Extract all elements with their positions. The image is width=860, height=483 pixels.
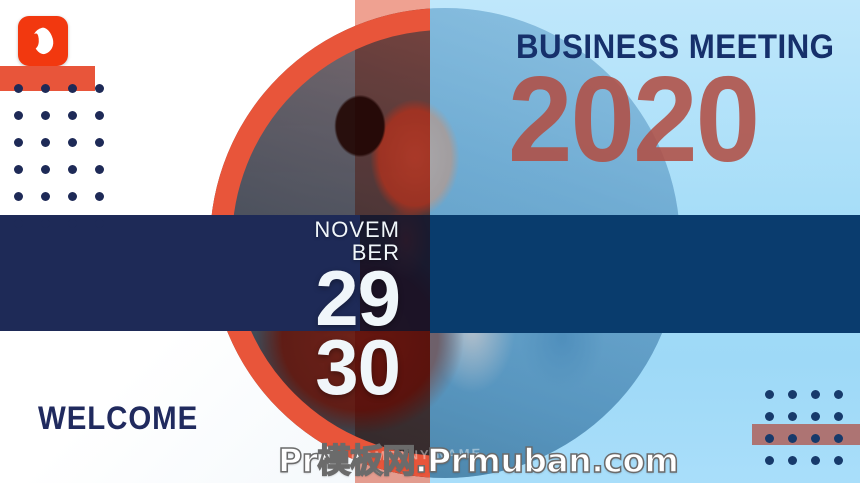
- dot: [68, 165, 77, 174]
- dot: [811, 456, 820, 465]
- dot: [95, 84, 104, 93]
- dot: [834, 412, 843, 421]
- dot: [14, 84, 23, 93]
- event-year: 2020: [508, 58, 758, 180]
- dot: [68, 219, 77, 228]
- dot: [41, 219, 50, 228]
- dot: [811, 390, 820, 399]
- event-date-block: NOVEMBER 29 30: [300, 218, 400, 401]
- dot: [788, 390, 797, 399]
- dot: [788, 434, 797, 443]
- dot: [95, 138, 104, 147]
- dot: [68, 111, 77, 120]
- site-watermark: Pr模板网.Prmuban.com: [278, 434, 678, 482]
- dot-grid-top-left: [14, 84, 122, 246]
- dot: [14, 138, 23, 147]
- dot: [95, 219, 104, 228]
- dot: [41, 165, 50, 174]
- dot: [788, 412, 797, 421]
- welcome-text: WELCOME: [38, 400, 198, 437]
- dot: [95, 111, 104, 120]
- dot: [811, 412, 820, 421]
- event-day-second: 30: [300, 333, 400, 402]
- dot: [95, 165, 104, 174]
- dot: [68, 138, 77, 147]
- dot: [41, 192, 50, 201]
- dot: [765, 390, 774, 399]
- dot: [14, 192, 23, 201]
- brand-logo[interactable]: [18, 16, 68, 66]
- slide-canvas: BUSINESS MEETING 2020 NOVEMBER 29 30 WEL…: [0, 0, 860, 483]
- dot: [68, 84, 77, 93]
- dot: [765, 412, 774, 421]
- dot: [834, 456, 843, 465]
- dot: [834, 434, 843, 443]
- dot: [41, 111, 50, 120]
- dot: [834, 390, 843, 399]
- dot-grid-bottom-right: [765, 390, 857, 478]
- dot: [41, 84, 50, 93]
- dot: [68, 192, 77, 201]
- dot: [14, 219, 23, 228]
- dot: [14, 111, 23, 120]
- dot: [14, 165, 23, 174]
- dot: [788, 456, 797, 465]
- leaf-droplet-icon: [30, 26, 56, 57]
- dot: [41, 138, 50, 147]
- dot: [95, 192, 104, 201]
- dot: [765, 456, 774, 465]
- navy-band-right-overlay: [430, 215, 680, 333]
- dot: [765, 434, 774, 443]
- dot: [811, 434, 820, 443]
